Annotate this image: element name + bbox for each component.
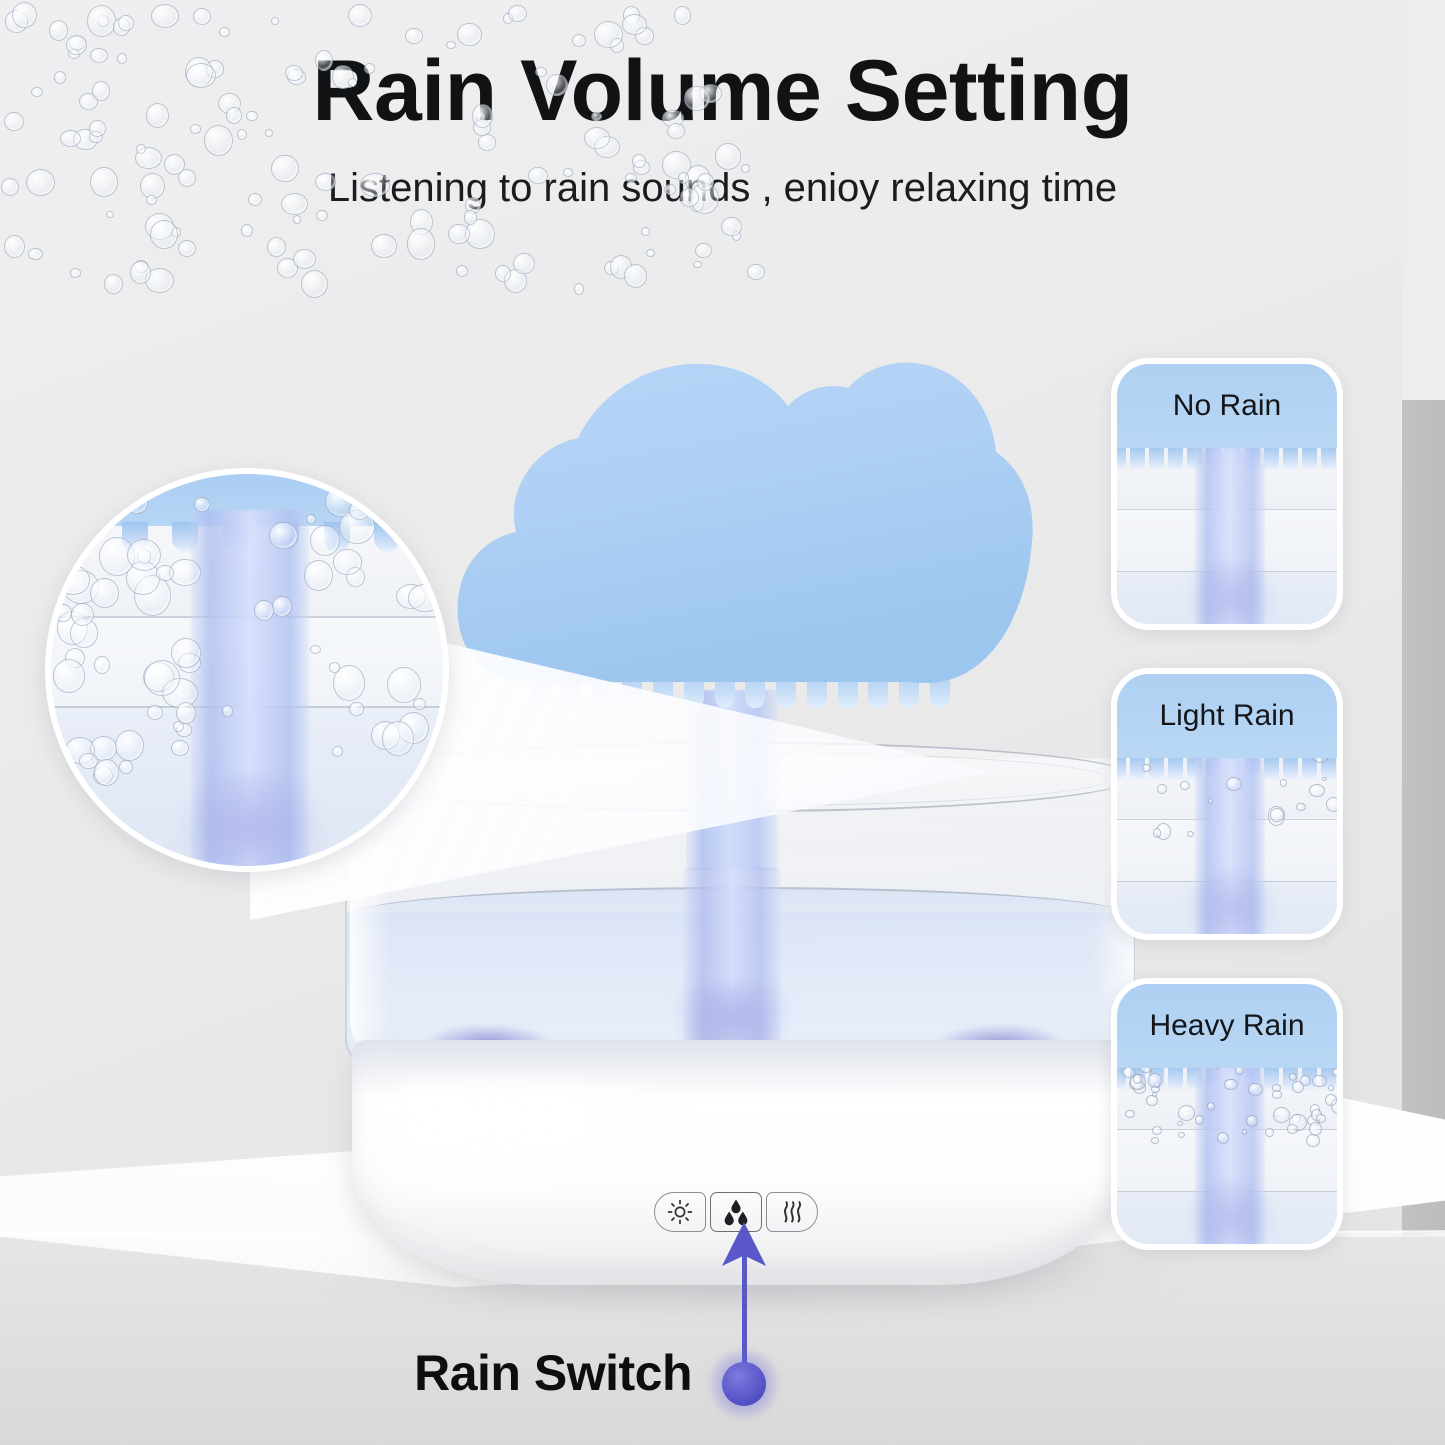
- water-droplet: [405, 28, 422, 44]
- water-droplet: [90, 167, 118, 198]
- panel-title: Light Rain: [1159, 699, 1294, 733]
- water-droplet: [662, 110, 683, 128]
- water-droplet: [1217, 1132, 1229, 1144]
- water-droplet: [265, 129, 273, 138]
- cloud-shape: [440, 352, 1040, 712]
- water-droplet: [697, 173, 715, 190]
- water-droplet: [635, 27, 655, 45]
- water-droplet: [316, 210, 328, 221]
- water-droplet: [348, 4, 373, 28]
- water-droplet: [130, 261, 152, 284]
- water-droplet: [622, 14, 648, 35]
- water-droplet: [28, 248, 43, 261]
- sun-icon: [667, 1199, 693, 1225]
- water-droplet: [226, 107, 242, 124]
- water-droplet: [364, 63, 375, 74]
- water-droplet: [150, 220, 177, 249]
- control-button-group: [654, 1192, 818, 1232]
- water-droplet: [4, 112, 24, 131]
- water-droplet: [528, 167, 548, 184]
- water-droplet: [90, 48, 108, 63]
- water-droplet: [1273, 1107, 1289, 1123]
- water-droplet: [1151, 1137, 1159, 1144]
- water-droplet: [535, 67, 548, 78]
- water-droplet: [572, 34, 586, 47]
- water-droplet: [684, 86, 710, 112]
- water-droplet: [301, 270, 328, 298]
- water-droplet: [448, 224, 470, 244]
- water-droplet: [662, 151, 691, 180]
- water-droplet: [219, 27, 231, 37]
- water-droplet: [79, 93, 98, 110]
- water-droplet: [293, 249, 316, 270]
- panel-title: No Rain: [1173, 389, 1281, 423]
- water-droplet: [1148, 1073, 1162, 1088]
- nozzle-tooth: [324, 522, 350, 552]
- water-droplet: [1246, 1115, 1258, 1128]
- water-droplet: [693, 261, 702, 269]
- water-droplet: [1332, 1068, 1342, 1076]
- water-droplet: [97, 15, 110, 28]
- water-droplet: [69, 36, 85, 50]
- water-droplet: [26, 169, 55, 196]
- water-droplet: [92, 81, 110, 101]
- water-droplet: [1157, 784, 1166, 794]
- water-droplet: [695, 243, 712, 259]
- water-droplet: [1178, 1132, 1185, 1138]
- water-droplet: [1224, 1079, 1238, 1091]
- water-droplet: [747, 264, 765, 281]
- water-droplet: [135, 147, 162, 169]
- water-droplet: [689, 196, 704, 212]
- water-droplet: [504, 269, 528, 293]
- panel-header: No Rain: [1117, 364, 1337, 448]
- water-droplet: [476, 112, 485, 122]
- water-droplet: [360, 173, 390, 197]
- water-droplet: [60, 130, 81, 147]
- zoom-mist-glow: [179, 774, 324, 872]
- panel-mist-glow: [1185, 562, 1277, 630]
- water-droplet: [70, 268, 81, 278]
- panel-title: Heavy Rain: [1149, 1009, 1304, 1043]
- water-droplet: [237, 129, 247, 140]
- water-droplet: [1, 178, 19, 196]
- water-droplet: [1328, 1085, 1334, 1091]
- water-droplet: [371, 234, 396, 259]
- water-droplet: [1309, 1122, 1323, 1136]
- water-droplet: [464, 210, 478, 224]
- water-droplet: [1177, 1121, 1183, 1126]
- water-droplet: [178, 169, 196, 187]
- water-droplet: [465, 197, 481, 214]
- water-droplet: [267, 237, 286, 257]
- zoom-detail-circle: [45, 468, 449, 872]
- water-droplet: [1226, 777, 1242, 791]
- water-droplet: [641, 227, 650, 235]
- water-droplet: [623, 6, 641, 25]
- nozzle-tooth: [1340, 1068, 1343, 1090]
- zoom-detail-content: [51, 474, 443, 866]
- water-droplet: [12, 2, 37, 28]
- water-droplet: [193, 8, 211, 25]
- water-droplet: [68, 49, 80, 59]
- water-droplet: [646, 249, 655, 257]
- state-panel-heavy-rain[interactable]: Heavy Rain: [1111, 978, 1343, 1250]
- water-droplet: [66, 35, 87, 55]
- water-droplet: [1152, 1126, 1163, 1135]
- water-droplet: [574, 283, 585, 295]
- water-droplet: [1180, 781, 1190, 791]
- water-droplet: [241, 224, 253, 237]
- water-droplet: [140, 173, 165, 199]
- water-droplet: [508, 5, 527, 22]
- water-droplet: [457, 23, 482, 47]
- water-droplet: [332, 65, 354, 89]
- water-droplet: [495, 265, 511, 282]
- mist-button[interactable]: [766, 1192, 818, 1232]
- water-droplet: [54, 71, 66, 84]
- water-droplet: [1242, 1129, 1248, 1135]
- water-droplet: [1309, 784, 1325, 797]
- water-droplet: [690, 183, 720, 215]
- water-droplet: [5, 10, 29, 33]
- water-droplet: [721, 217, 742, 237]
- water-droplet: [277, 258, 298, 278]
- water-droplet: [136, 144, 146, 154]
- water-droplet: [293, 215, 301, 224]
- water-droplet: [678, 172, 689, 184]
- water-droplet: [667, 123, 685, 139]
- water-droplet: [271, 155, 298, 183]
- annotation-label: Rain Switch: [372, 1344, 692, 1402]
- water-droplet: [104, 274, 123, 295]
- panel-mist-glow: [1185, 1182, 1277, 1250]
- water-droplet: [699, 84, 722, 103]
- nozzle-tooth: [1340, 758, 1343, 780]
- water-droplet: [113, 18, 131, 36]
- water-droplet: [89, 120, 107, 137]
- nozzle-tooth: [374, 522, 400, 552]
- water-droplet: [1312, 1075, 1327, 1088]
- water-droplet: [1325, 1094, 1338, 1106]
- cloud-diffuser-top: [440, 352, 1040, 712]
- water-droplet: [246, 111, 258, 122]
- water-droplet: [248, 193, 262, 206]
- state-panel-no-rain[interactable]: No Rain: [1111, 358, 1343, 630]
- water-droplet: [632, 154, 646, 168]
- water-droplet: [446, 41, 456, 49]
- water-droplet: [49, 20, 68, 41]
- water-droplet: [190, 124, 202, 134]
- water-droplet: [178, 240, 196, 257]
- water-droplet: [1207, 1102, 1215, 1111]
- tank-water-droplets: [0, 0, 776, 310]
- light-button[interactable]: [654, 1192, 706, 1232]
- nozzle-tooth: [122, 522, 148, 552]
- water-droplet: [281, 193, 308, 215]
- annotation-dot: [722, 1362, 766, 1406]
- nozzle-tooth: [71, 522, 97, 552]
- water-droplet: [1125, 1110, 1135, 1119]
- water-droplet: [715, 143, 742, 169]
- water-droplet: [584, 127, 611, 150]
- water-droplet: [407, 228, 436, 260]
- water-droplet: [87, 5, 117, 37]
- water-droplet: [472, 104, 493, 128]
- water-droplet: [204, 125, 233, 156]
- water-droplet: [591, 112, 602, 121]
- water-droplet: [625, 173, 637, 183]
- water-droplet: [89, 131, 103, 143]
- water-droplet: [610, 255, 632, 279]
- water-droplet: [1265, 1128, 1274, 1138]
- water-droplet: [1178, 1105, 1195, 1121]
- water-droplet: [674, 6, 691, 24]
- water-droplet: [465, 219, 495, 250]
- water-droplet: [563, 168, 573, 177]
- water-droplet: [31, 87, 43, 97]
- water-droplet: [1208, 798, 1214, 804]
- water-droplet: [218, 93, 241, 114]
- water-droplet: [610, 38, 625, 54]
- water-droplet: [287, 69, 306, 85]
- water-droplet: [680, 188, 699, 207]
- water-drops-icon: [721, 1198, 751, 1226]
- water-droplet: [1339, 1096, 1343, 1106]
- water-droplet: [185, 57, 213, 87]
- water-droplet: [478, 134, 497, 150]
- water-droplet: [151, 4, 179, 28]
- water-droplet: [741, 164, 750, 173]
- water-droplet: [1280, 779, 1288, 786]
- water-droplet: [1248, 1083, 1263, 1097]
- water-droplet: [117, 53, 127, 64]
- water-droplet: [118, 15, 134, 31]
- water-droplet: [134, 260, 148, 273]
- water-droplet: [664, 184, 676, 195]
- water-droplet: [594, 21, 624, 48]
- water-droplet: [685, 165, 711, 194]
- water-droplet: [1300, 1075, 1312, 1086]
- water-droplet: [164, 154, 186, 175]
- panel-mist-glow: [1185, 872, 1277, 940]
- water-droplet: [594, 136, 620, 158]
- water-droplet: [186, 63, 216, 88]
- water-droplet: [271, 17, 279, 25]
- water-droplet: [1142, 764, 1150, 772]
- water-droplet: [145, 268, 174, 293]
- water-droplet: [4, 235, 25, 259]
- water-droplet: [513, 253, 535, 275]
- water-droplet: [315, 50, 333, 70]
- water-droplet: [1287, 1124, 1297, 1133]
- water-droplet: [546, 74, 568, 96]
- panel-header: Light Rain: [1117, 674, 1337, 758]
- water-droplet: [348, 78, 357, 87]
- water-droplet: [171, 227, 181, 237]
- nozzle-tooth: [1340, 448, 1343, 470]
- water-droplet: [1195, 1115, 1205, 1125]
- water-droplet: [1296, 803, 1306, 811]
- water-droplet: [106, 211, 114, 218]
- state-panel-light-rain[interactable]: Light Rain: [1111, 668, 1343, 940]
- rain-volume-button[interactable]: [710, 1192, 762, 1232]
- steam-waves-icon: [778, 1199, 806, 1225]
- water-droplet: [732, 231, 741, 241]
- water-droplet: [73, 129, 98, 150]
- water-droplet: [1316, 1114, 1326, 1122]
- water-droplet: [206, 60, 224, 79]
- water-droplet: [624, 264, 647, 288]
- water-droplet: [146, 103, 169, 128]
- water-droplet: [1187, 831, 1194, 837]
- water-droplet: [1289, 1073, 1297, 1080]
- water-droplet: [315, 173, 337, 191]
- water-droplet: [1326, 797, 1342, 813]
- water-droplet: [1153, 828, 1162, 838]
- water-droplet: [410, 209, 434, 235]
- panel-header: Heavy Rain: [1117, 984, 1337, 1068]
- water-droplet: [456, 265, 468, 277]
- water-droplet: [633, 160, 650, 174]
- water-droplet: [473, 119, 491, 135]
- infographic-canvas: Rain Volume Setting Listening to rain so…: [0, 0, 1445, 1445]
- water-droplet: [285, 65, 303, 81]
- water-droplet: [1322, 777, 1327, 781]
- water-droplet: [503, 13, 513, 24]
- water-droplet: [145, 213, 174, 240]
- water-droplet: [146, 195, 156, 205]
- water-droplet: [1122, 1067, 1135, 1079]
- water-droplet: [604, 261, 618, 275]
- water-droplet: [1152, 1092, 1158, 1097]
